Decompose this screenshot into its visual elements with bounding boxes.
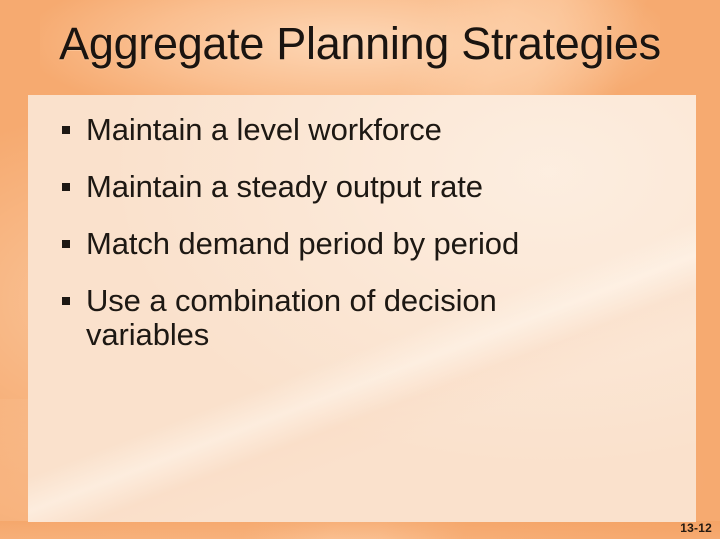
square-bullet-icon: [62, 297, 70, 305]
list-item-label: Maintain a steady output rate: [86, 170, 662, 204]
list-item: Maintain a level workforce: [62, 113, 662, 147]
square-bullet-icon: [62, 240, 70, 248]
slide-title: Aggregate Planning Strategies: [0, 16, 720, 72]
list-item: Match demand period by period: [62, 227, 662, 261]
presentation-slide: Aggregate Planning Strategies Maintain a…: [0, 0, 720, 539]
page-number: 13-12: [680, 521, 712, 535]
list-item-label: Maintain a level workforce: [86, 113, 662, 147]
square-bullet-icon: [62, 183, 70, 191]
background-bottom-band: [0, 521, 720, 539]
list-item-label: Match demand period by period: [86, 227, 662, 261]
list-item: Maintain a steady output rate: [62, 170, 662, 204]
bullet-list: Maintain a level workforce Maintain a st…: [62, 113, 662, 352]
list-item: Use a combination of decision variables: [62, 284, 536, 352]
square-bullet-icon: [62, 126, 70, 134]
slide-content-panel: Maintain a level workforce Maintain a st…: [28, 95, 696, 522]
list-item-label: Use a combination of decision variables: [86, 284, 536, 352]
